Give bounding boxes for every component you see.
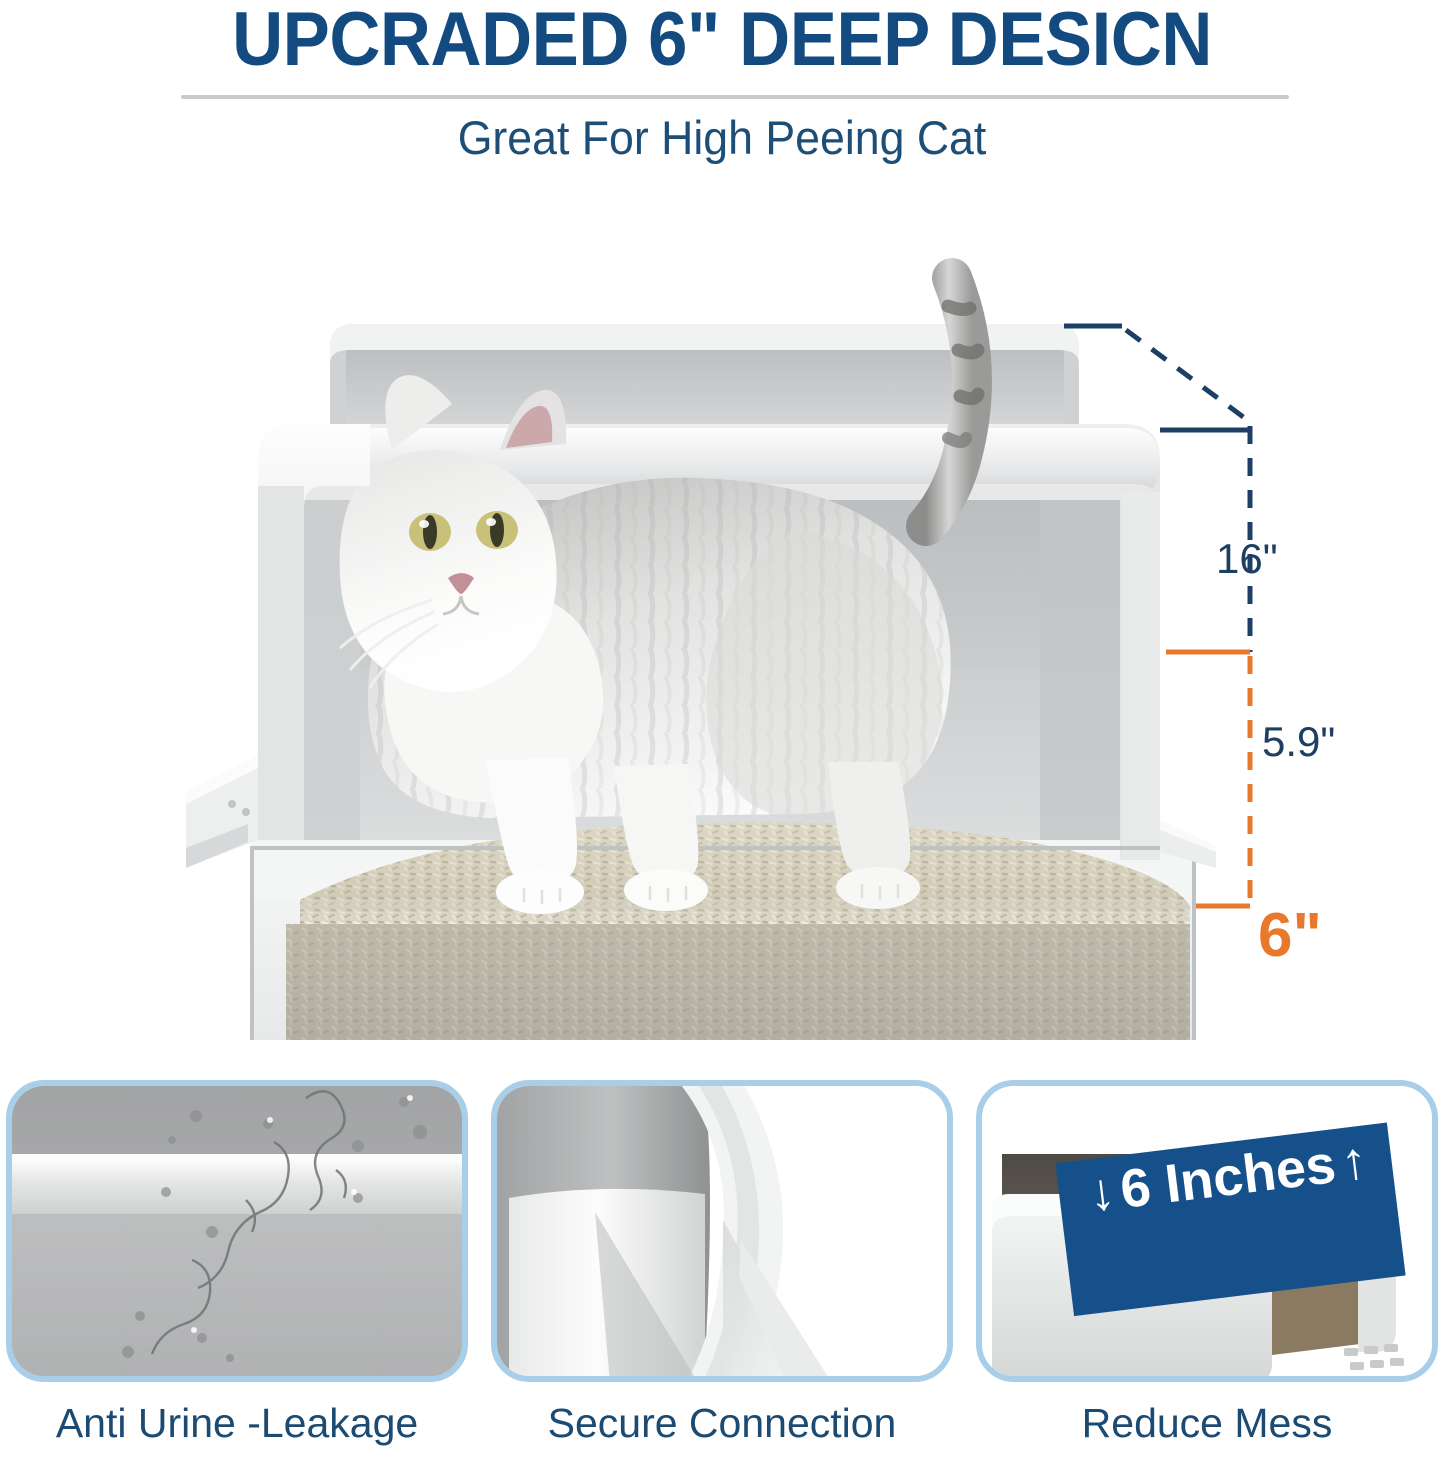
secure-connection-image — [491, 1080, 953, 1382]
anti-urine-leakage-image — [6, 1080, 468, 1382]
arrow-down-icon: ↓ — [1086, 1165, 1118, 1220]
arrow-up-icon: ↑ — [1338, 1134, 1370, 1189]
page-subtitle: Great For High Peeing Cat — [36, 110, 1408, 165]
panel-image-frame — [491, 1080, 953, 1382]
product-infographic: UPCRADED 6" DEEP DESICN Great For High P… — [0, 0, 1444, 1468]
title-divider — [181, 95, 1289, 99]
dimension-label-depth: 16" — [1216, 535, 1278, 583]
hero-product-illustration: 16" 5.9" 6" 23.6" — [0, 200, 1444, 1040]
panel-image-frame — [6, 1080, 468, 1382]
feature-panel-row: Anti Urine -Leakage — [0, 1080, 1444, 1468]
feature-caption-anti-urine-leakage: Anti Urine -Leakage — [6, 1400, 468, 1447]
feature-panel-secure-connection: Secure Connection — [491, 1080, 953, 1468]
feature-caption-secure-connection: Secure Connection — [491, 1400, 953, 1447]
panel-image-frame: ↓ 6 Inches ↑ — [976, 1080, 1438, 1382]
feature-caption-reduce-mess: Reduce Mess — [976, 1400, 1438, 1447]
reduce-mess-badge-text: 6 Inches — [1117, 1137, 1338, 1217]
litter-box-image — [0, 200, 1444, 1040]
feature-panel-anti-urine-leakage: Anti Urine -Leakage — [6, 1080, 468, 1468]
page-title: UPCRADED 6" DEEP DESICN — [51, 0, 1394, 83]
dimension-label-litter-depth: 6" — [1258, 900, 1322, 971]
dimension-label-wall-height: 5.9" — [1262, 718, 1335, 766]
feature-panel-reduce-mess: ↓ 6 Inches ↑ Reduce Mess — [976, 1080, 1438, 1468]
